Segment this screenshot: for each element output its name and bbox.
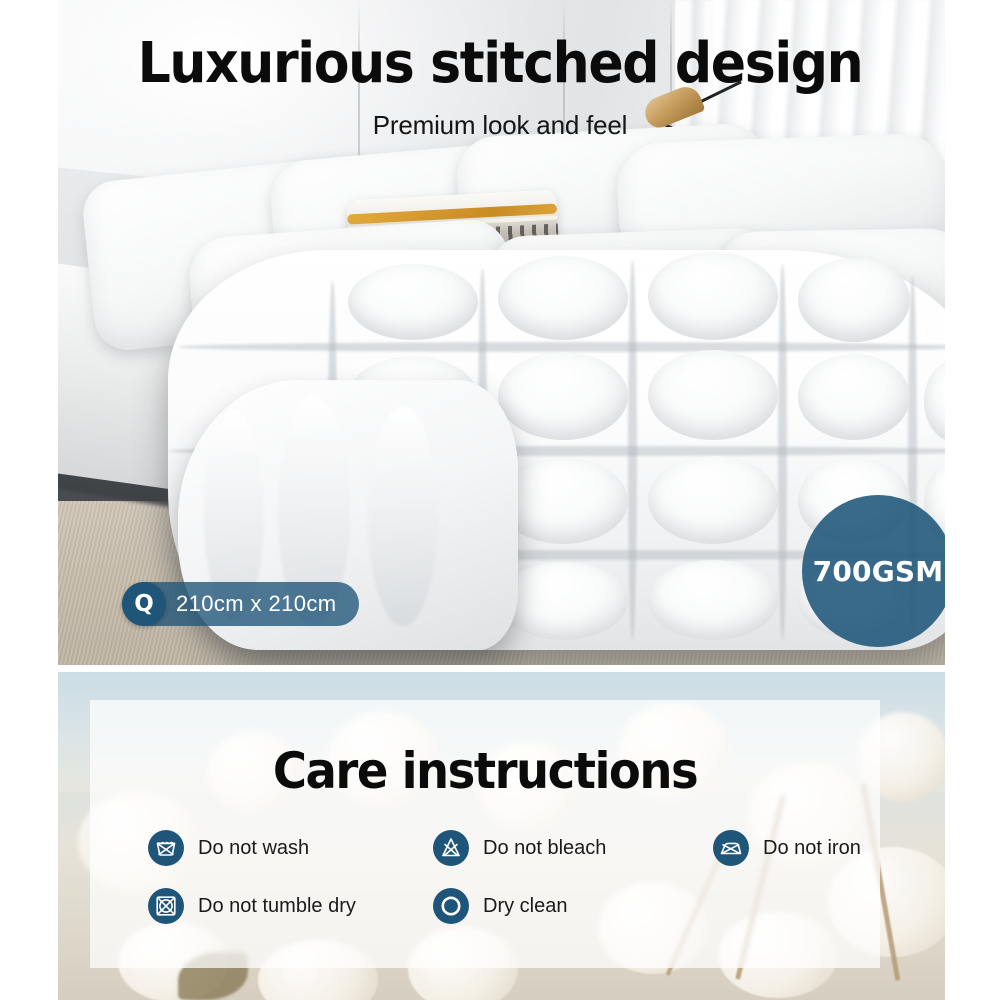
care-instructions-panel: Care instructions Do not wash — [58, 672, 945, 1000]
care-card: Care instructions Do not wash — [90, 700, 880, 968]
product-feature-page: 700GSM Q 210cm x 210cm Luxurious stitche… — [0, 0, 1000, 1000]
size-dimensions: 210cm x 210cm — [176, 591, 337, 617]
do-not-iron-icon — [713, 830, 749, 866]
care-item-do-not-tumble-dry: Do not tumble dry — [148, 888, 433, 924]
do-not-bleach-icon — [433, 830, 469, 866]
gsm-value: 700GSM — [813, 555, 944, 588]
hero-subtitle: Premium look and feel — [0, 110, 1000, 141]
care-label: Do not bleach — [483, 837, 606, 860]
care-label: Do not iron — [763, 837, 861, 860]
size-badge: Q 210cm x 210cm — [122, 582, 359, 626]
care-item-dry-clean: Dry clean — [433, 888, 713, 924]
care-item-do-not-bleach: Do not bleach — [433, 830, 713, 866]
dry-clean-icon — [433, 888, 469, 924]
care-icon-grid: Do not wash Do not bleach — [148, 830, 888, 946]
care-row: Do not wash Do not bleach — [148, 830, 888, 866]
care-row: Do not tumble dry Dry clean — [148, 888, 888, 924]
care-label: Dry clean — [483, 895, 567, 918]
care-label: Do not tumble dry — [198, 895, 356, 918]
care-item-do-not-iron: Do not iron — [713, 830, 888, 866]
hero-bedroom-photo: 700GSM — [58, 0, 945, 665]
do-not-wash-icon — [148, 830, 184, 866]
hero-title: Luxurious stitched design — [35, 36, 965, 92]
gsm-badge: 700GSM — [802, 495, 945, 647]
care-item-do-not-wash: Do not wash — [148, 830, 433, 866]
care-label: Do not wash — [198, 837, 309, 860]
do-not-tumble-dry-icon — [148, 888, 184, 924]
size-code-circle: Q — [122, 582, 166, 626]
care-title: Care instructions — [118, 742, 853, 800]
